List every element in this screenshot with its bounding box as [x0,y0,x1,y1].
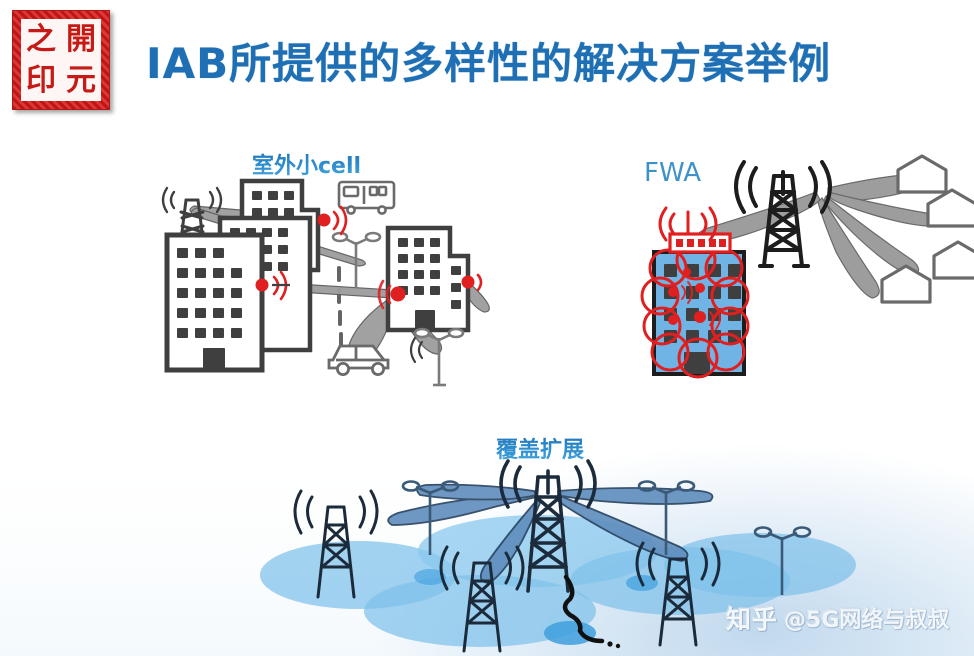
house-icon [898,156,946,192]
small-cell-node [318,214,331,227]
seal-char-yin: 印 [21,60,61,101]
building-right [388,228,468,330]
bus-icon [339,182,394,214]
car-icon [329,346,388,375]
coverage-ellipse [544,621,596,645]
building-front-left [167,235,262,370]
small-cell-node [256,279,269,292]
seal-char-yuan: 元 [61,60,101,101]
house-icon [928,190,974,226]
small-cell-node [462,276,475,289]
fiber-end-dots [607,641,620,648]
small-cell-node [391,287,406,302]
house-icon [882,266,930,302]
relay-tower-west-waves [295,491,377,533]
house-icon [934,242,974,278]
diagram-fwa [640,160,970,395]
diagram-coverage-extension [270,455,830,655]
diagram-outdoor-small-cell [150,170,490,405]
seal-char-kai: 開 [61,19,101,60]
seal-logo: 之 開 印 元 [12,10,110,110]
seal-inner: 之 開 印 元 [21,19,101,101]
page-title: IAB所提供的多样性的解决方案举例 [146,30,831,91]
seal-char-zhi: 之 [21,19,61,60]
slide-canvas: 之 開 印 元 IAB所提供的多样性的解决方案举例 室外小cell FWA 覆盖… [0,0,974,656]
rooftop-relay-unit [670,234,730,252]
